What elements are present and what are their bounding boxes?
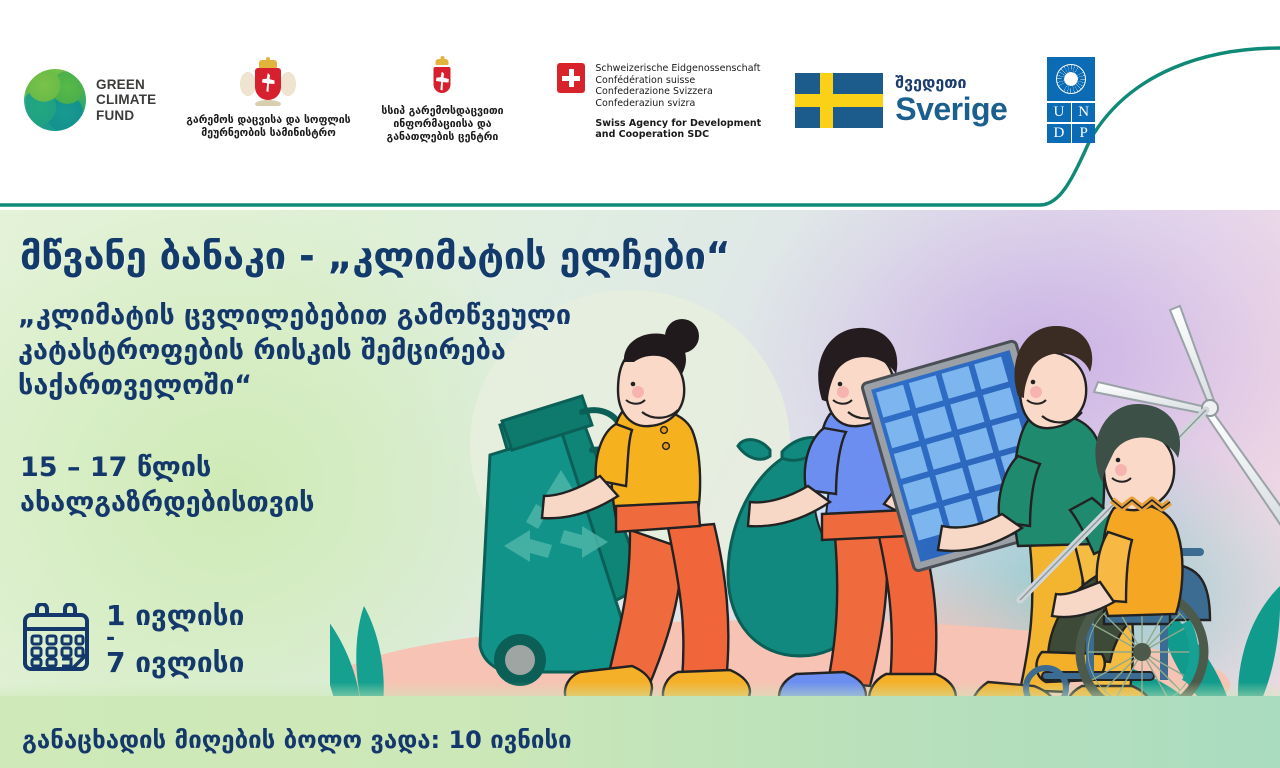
swiss-text: Schweizerische Eidgenossenschaft Confédé… [595, 63, 761, 141]
age-line-1: 15 – 17 წლის [20, 450, 315, 485]
undp-letter-u: U [1047, 103, 1070, 122]
page-subtitle: „კლიმატის ცვლილებებით გამოწვეული კატასტრ… [18, 298, 571, 403]
sweden-label-ka: შვედეთი [895, 74, 1007, 92]
gcf-line-1: GREEN [96, 77, 156, 93]
ministry-name: გარემოს დაცვისა და სოფლის მეურნეობის სამ… [186, 114, 350, 140]
poster-root: GREEN CLIMATE FUND გარემოს დაცვისა და სო… [0, 0, 1280, 768]
calendar-icon [20, 603, 92, 675]
undp-letter-p: P [1072, 124, 1095, 143]
sweden-flag-icon [795, 73, 883, 128]
logo-strip: GREEN CLIMATE FUND გარემოს დაცვისა და სო… [0, 0, 1280, 200]
undp-letters: U N D P [1047, 103, 1095, 143]
logo-sweden: შვედეთი Sverige [795, 73, 1007, 128]
undp-letter-d: D [1047, 124, 1070, 143]
logo-swiss-sdc: Schweizerische Eidgenossenschaft Confédé… [557, 59, 761, 141]
logo-green-climate-fund: GREEN CLIMATE FUND [24, 69, 156, 131]
date-row: 1 ივლისი - 7 ივლისი [20, 600, 244, 678]
swiss-line-it: Confederazione Svizzera [595, 86, 761, 98]
subtitle-line-1: „კლიმატის ცვლილებებით გამოწვეული [18, 298, 571, 333]
logo-undp: U N D P [1047, 57, 1095, 143]
deadline-text: განაცხადის მიღების ბოლო ვადა: 10 ივნისი [22, 726, 572, 754]
eiec-name: სსიპ გარემოსდაცვითი ინფორმაციისა და განა… [381, 105, 503, 144]
eiec-line-2: ინფორმაციისა და [381, 118, 503, 131]
logo-ministry-environment: გარემოს დაცვისა და სოფლის მეურნეობის სამ… [186, 60, 361, 140]
age-range-text: 15 – 17 წლის ახალგაზრდებისთვის [20, 450, 315, 520]
undp-letter-n: N [1072, 103, 1095, 122]
page-title: მწვანე ბანაკი - „კლიმატის ელჩები“ [20, 234, 730, 278]
subtitle-line-2: კატასტროფების რისკის შემცირება [18, 333, 571, 368]
swiss-line-de: Schweizerische Eidgenossenschaft [595, 63, 761, 75]
un-emblem-icon [1047, 57, 1095, 101]
ministry-line-1: გარემოს დაცვისა და სოფლის [186, 114, 350, 127]
gcf-line-2: CLIMATE [96, 92, 156, 108]
georgia-small-emblem-icon [427, 57, 457, 99]
date-start: 1 ივლისი [106, 600, 244, 631]
subtitle-line-3: საქართველოში“ [18, 368, 571, 403]
swiss-line-fr: Confédération suisse [595, 75, 761, 87]
age-line-2: ახალგაზრდებისთვის [20, 485, 315, 520]
sweden-label-sv: Sverige [895, 92, 1007, 126]
georgia-coat-of-arms-icon [240, 60, 296, 108]
eiec-line-3: განათლების ცენტრი [381, 131, 503, 144]
sdc-line-1: Swiss Agency for Development [595, 118, 761, 130]
ministry-line-2: მეურნეობის სამინისტრო [186, 127, 350, 140]
globe-icon [24, 69, 86, 131]
sdc-line-2: and Cooperation SDC [595, 129, 761, 141]
date-end: 7 ივლისი [106, 647, 244, 678]
gcf-line-3: FUND [96, 108, 156, 124]
gcf-wordmark: GREEN CLIMATE FUND [96, 77, 156, 124]
logo-eiec: სსიპ გარემოსდაცვითი ინფორმაციისა და განა… [381, 57, 531, 144]
swiss-line-rm: Confederaziun svizra [595, 98, 761, 110]
date-dash: - [106, 631, 244, 647]
eiec-line-1: სსიპ გარემოსდაცვითი [381, 105, 503, 118]
date-range: 1 ივლისი - 7 ივლისი [106, 600, 244, 678]
swiss-cross-icon [557, 63, 585, 93]
